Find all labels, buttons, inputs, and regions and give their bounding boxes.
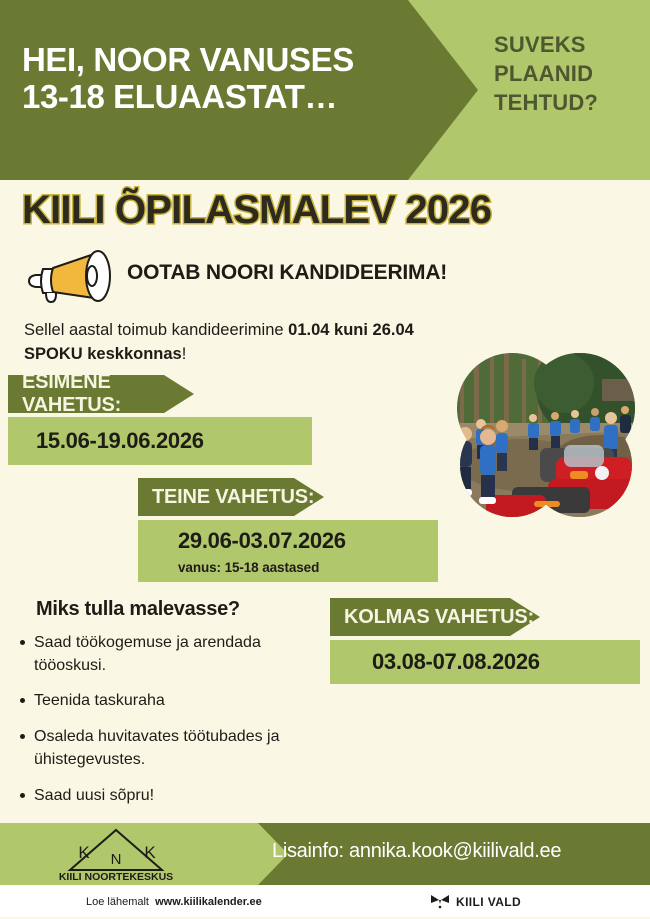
header-side-line2: PLAANID	[494, 59, 640, 88]
megaphone-icon	[22, 247, 120, 305]
shift-1-banner: ESIMENE VAHETUS:	[8, 375, 194, 413]
why-join-list: Saad töökogemuse ja arendada tööoskusi. …	[14, 632, 324, 820]
shift-1-datebar: 15.06-19.06.2026	[8, 417, 312, 465]
header-side-question: SUVEKS PLAANID TEHTUD?	[494, 30, 640, 117]
header-band: HEI, NOOR VANUSES 13-18 ELUAASTAT… SUVEK…	[0, 0, 650, 180]
shift-3-datebar: 03.08-07.08.2026	[330, 640, 640, 684]
intro-plain-1: Sellel aastal toimub kandideerimine	[24, 321, 288, 339]
shift-1-label: ESIMENE VAHETUS:	[8, 371, 194, 417]
subtitle: OOTAB NOORI KANDIDEERIMA!	[127, 261, 447, 285]
knk-logo-name: KIILI NOORTEKESKUS	[59, 871, 173, 882]
header-title: HEI, NOOR VANUSES 13-18 ELUAASTAT…	[22, 42, 422, 116]
intro-line2: SPOKU keskkonnas!	[24, 342, 494, 366]
intro-platform: SPOKU keskkonnas	[24, 345, 182, 363]
shift-1-dates: 15.06-19.06.2026	[36, 428, 312, 454]
knk-letter-left: K	[78, 843, 90, 862]
list-item: Osaleda huvitavates töötubades ja ühiste…	[14, 726, 324, 771]
shift-2-datebar: 29.06-03.07.2026 vanus: 15-18 aastased	[138, 520, 438, 582]
read-more-line: Loe lähemalt www.kiilikalender.ee	[86, 896, 262, 908]
camp-photo	[452, 353, 638, 518]
intro-dates: 01.04 kuni 26.04	[288, 321, 414, 339]
header-side-line1: SUVEKS	[494, 30, 640, 59]
shift-3-label: KOLMAS VAHETUS:	[330, 606, 534, 629]
shift-2-banner: TEINE VAHETUS:	[138, 478, 324, 516]
poster: HEI, NOOR VANUSES 13-18 ELUAASTAT… SUVEK…	[0, 0, 650, 919]
application-period-text: Sellel aastal toimub kandideerimine 01.0…	[24, 318, 494, 367]
kiili-vald-logo: KIILI VALD	[430, 893, 521, 911]
read-more-label: Loe lähemalt	[86, 896, 149, 908]
page-title: KIILI ÕPILASMALEV 2026	[22, 188, 637, 233]
shift-2-dates: 29.06-03.07.2026	[178, 528, 438, 554]
header-title-line2: 13-18 ELUAASTAT…	[22, 79, 422, 116]
shift-3-banner: KOLMAS VAHETUS:	[330, 598, 540, 636]
read-more-url[interactable]: www.kiilikalender.ee	[155, 896, 262, 908]
list-item: Saad töökogemuse ja arendada tööoskusi.	[14, 632, 324, 677]
why-join-title: Miks tulla malevasse?	[36, 598, 240, 621]
kiili-vald-text: KIILI VALD	[456, 895, 521, 909]
list-item: Saad uusi sõpru!	[14, 785, 324, 808]
contact-email[interactable]: Lisainfo: annika.kook@kiilivald.ee	[272, 840, 561, 863]
kiili-noortekeskus-logo: K N K KIILI NOORTEKESKUS	[58, 824, 174, 882]
header-title-line1: HEI, NOOR VANUSES	[22, 41, 354, 78]
shift-3-dates: 03.08-07.08.2026	[372, 649, 640, 675]
knk-letter-mid: N	[111, 851, 122, 868]
shift-2-age-note: vanus: 15-18 aastased	[178, 560, 438, 575]
kiili-vald-bowtie-icon	[430, 894, 450, 910]
shift-2-label: TEINE VAHETUS:	[138, 486, 314, 509]
call-to-action-row: OOTAB NOORI KANDIDEERIMA!	[22, 245, 622, 307]
list-item: Teenida taskuraha	[14, 690, 324, 713]
knk-letter-right: K	[144, 843, 156, 862]
intro-plain-2: !	[182, 345, 187, 363]
header-side-line3: TEHTUD?	[494, 88, 640, 117]
